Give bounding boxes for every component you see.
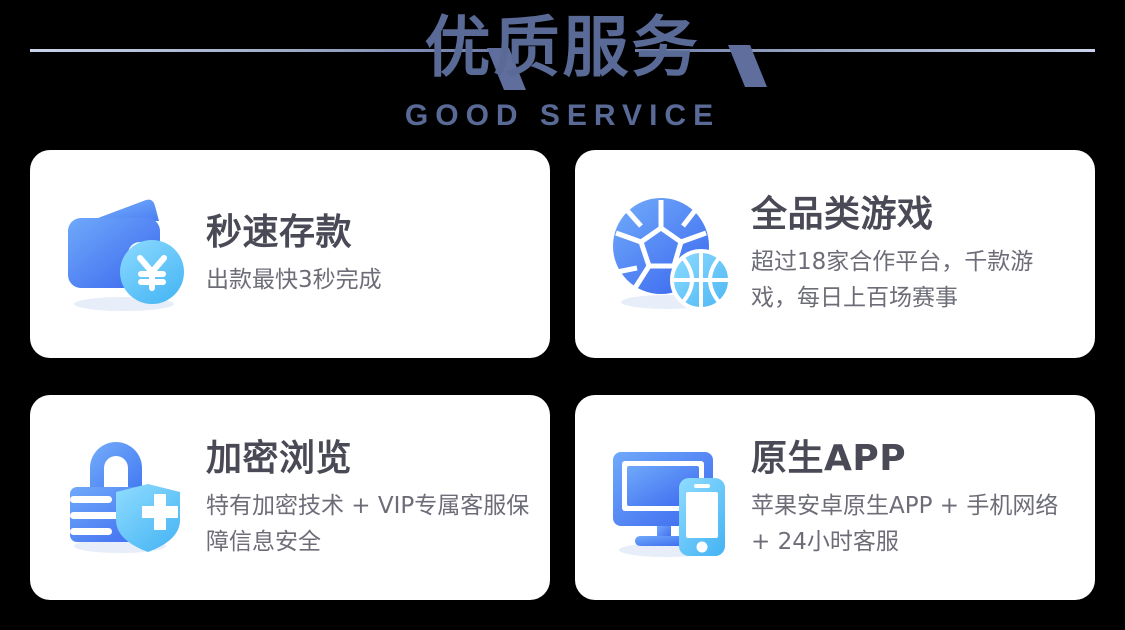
- card-title: 全品类游戏: [751, 192, 1077, 238]
- card-description: 特有加密技术 + VIP专属客服保障信息安全: [206, 488, 532, 560]
- feature-card-encryption[interactable]: 加密浏览 特有加密技术 + VIP专属客服保障信息安全: [30, 395, 550, 600]
- page-subtitle: GOOD SERVICE: [0, 99, 1125, 133]
- card-text-block: 加密浏览 特有加密技术 + VIP专属客服保障信息安全: [206, 436, 532, 560]
- card-text-block: 全品类游戏 超过18家合作平台，千款游戏，每日上百场赛事: [751, 192, 1077, 316]
- wallet-yen-icon: [60, 188, 192, 320]
- card-description: 苹果安卓原生APP + 手机网络 + 24小时客服: [751, 488, 1077, 560]
- card-description: 超过18家合作平台，千款游戏，每日上百场赛事: [751, 244, 1077, 316]
- card-title: 原生APP: [751, 436, 1077, 482]
- card-title: 秒速存款: [206, 210, 532, 256]
- feature-card-grid: 秒速存款 出款最快3秒完成: [30, 150, 1095, 600]
- soccer-basketball-icon: [605, 188, 737, 320]
- feature-card-games[interactable]: 全品类游戏 超过18家合作平台，千款游戏，每日上百场赛事: [575, 150, 1095, 358]
- lock-shield-icon: [60, 432, 192, 564]
- page-header: 优质服务 GOOD SERVICE: [0, 0, 1125, 150]
- card-text-block: 秒速存款 出款最快3秒完成: [206, 210, 532, 298]
- monitor-phone-icon: [605, 432, 737, 564]
- card-title: 加密浏览: [206, 436, 532, 482]
- card-text-block: 原生APP 苹果安卓原生APP + 手机网络 + 24小时客服: [751, 436, 1077, 560]
- feature-card-native-app[interactable]: 原生APP 苹果安卓原生APP + 手机网络 + 24小时客服: [575, 395, 1095, 600]
- card-description: 出款最快3秒完成: [206, 262, 532, 298]
- feature-card-deposit[interactable]: 秒速存款 出款最快3秒完成: [30, 150, 550, 358]
- page-title: 优质服务: [0, 8, 1125, 88]
